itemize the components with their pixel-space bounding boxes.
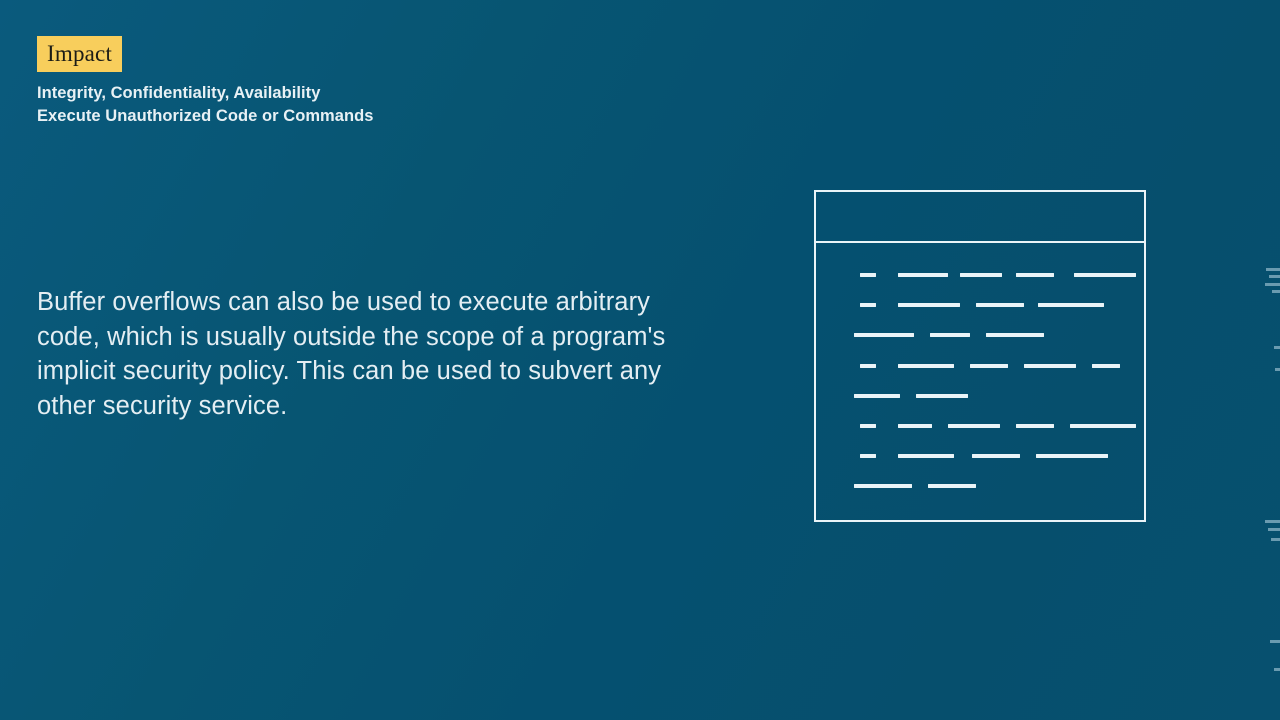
body-paragraph: Buffer overflows can also be used to exe… [37, 285, 709, 423]
document-text-row [816, 333, 1144, 337]
document-text-dash [916, 394, 968, 398]
bleed-dash [1274, 668, 1280, 671]
document-text-dash [860, 273, 876, 277]
document-text-row [816, 484, 1144, 488]
slide-header: Impact Integrity, Confidentiality, Avail… [37, 36, 657, 128]
document-text-dash [860, 364, 876, 368]
document-text-dash [898, 364, 954, 368]
document-text-dash [1024, 364, 1076, 368]
document-text-dash [854, 484, 912, 488]
bleed-dash [1270, 640, 1280, 643]
document-text-dash [960, 273, 1002, 277]
document-text-dash [970, 364, 1008, 368]
document-text-dash [860, 424, 876, 428]
document-text-dash [930, 333, 970, 337]
document-text-dash [898, 424, 932, 428]
bleed-dash [1275, 368, 1280, 371]
document-titlebar [816, 192, 1144, 243]
bleed-dash [1272, 290, 1280, 293]
impact-subtitle-line-1: Integrity, Confidentiality, Availability [37, 82, 657, 105]
document-text-dash [898, 273, 948, 277]
impact-badge: Impact [37, 36, 122, 72]
document-text-dash [1070, 424, 1136, 428]
document-text-dash [860, 454, 876, 458]
impact-subtitle-list: Integrity, Confidentiality, Availability… [37, 82, 657, 128]
impact-subtitle-line-2: Execute Unauthorized Code or Commands [37, 105, 657, 128]
document-text-row [816, 394, 1144, 398]
adjacent-slide-bleed [1262, 0, 1280, 720]
document-text-dash [928, 484, 976, 488]
document-text-row [816, 424, 1144, 428]
bleed-dash [1268, 528, 1280, 531]
document-text-dash [986, 333, 1044, 337]
document-text-dash [1016, 273, 1054, 277]
document-text-area [816, 245, 1144, 520]
document-text-dash [898, 303, 960, 307]
document-text-dash [1074, 273, 1136, 277]
bleed-dash [1269, 275, 1280, 278]
document-text-dash [1036, 454, 1108, 458]
document-text-dash [1038, 303, 1104, 307]
document-text-row [816, 364, 1144, 368]
document-text-dash [898, 454, 954, 458]
document-text-row [816, 303, 1144, 307]
bleed-dash [1274, 346, 1280, 349]
bleed-dash [1265, 520, 1280, 523]
document-text-row [816, 454, 1144, 458]
document-text-dash [860, 303, 876, 307]
document-text-dash [948, 424, 1000, 428]
bleed-dash [1266, 268, 1280, 271]
document-text-dash [1092, 364, 1120, 368]
document-text-dash [976, 303, 1024, 307]
bleed-dash [1265, 283, 1280, 286]
document-window-graphic [814, 190, 1146, 522]
document-text-dash [854, 333, 914, 337]
bleed-dash [1271, 538, 1280, 541]
document-text-dash [1016, 424, 1054, 428]
document-text-dash [972, 454, 1020, 458]
document-text-dash [854, 394, 900, 398]
presentation-slide: Impact Integrity, Confidentiality, Avail… [0, 0, 1280, 720]
document-text-row [816, 273, 1144, 277]
